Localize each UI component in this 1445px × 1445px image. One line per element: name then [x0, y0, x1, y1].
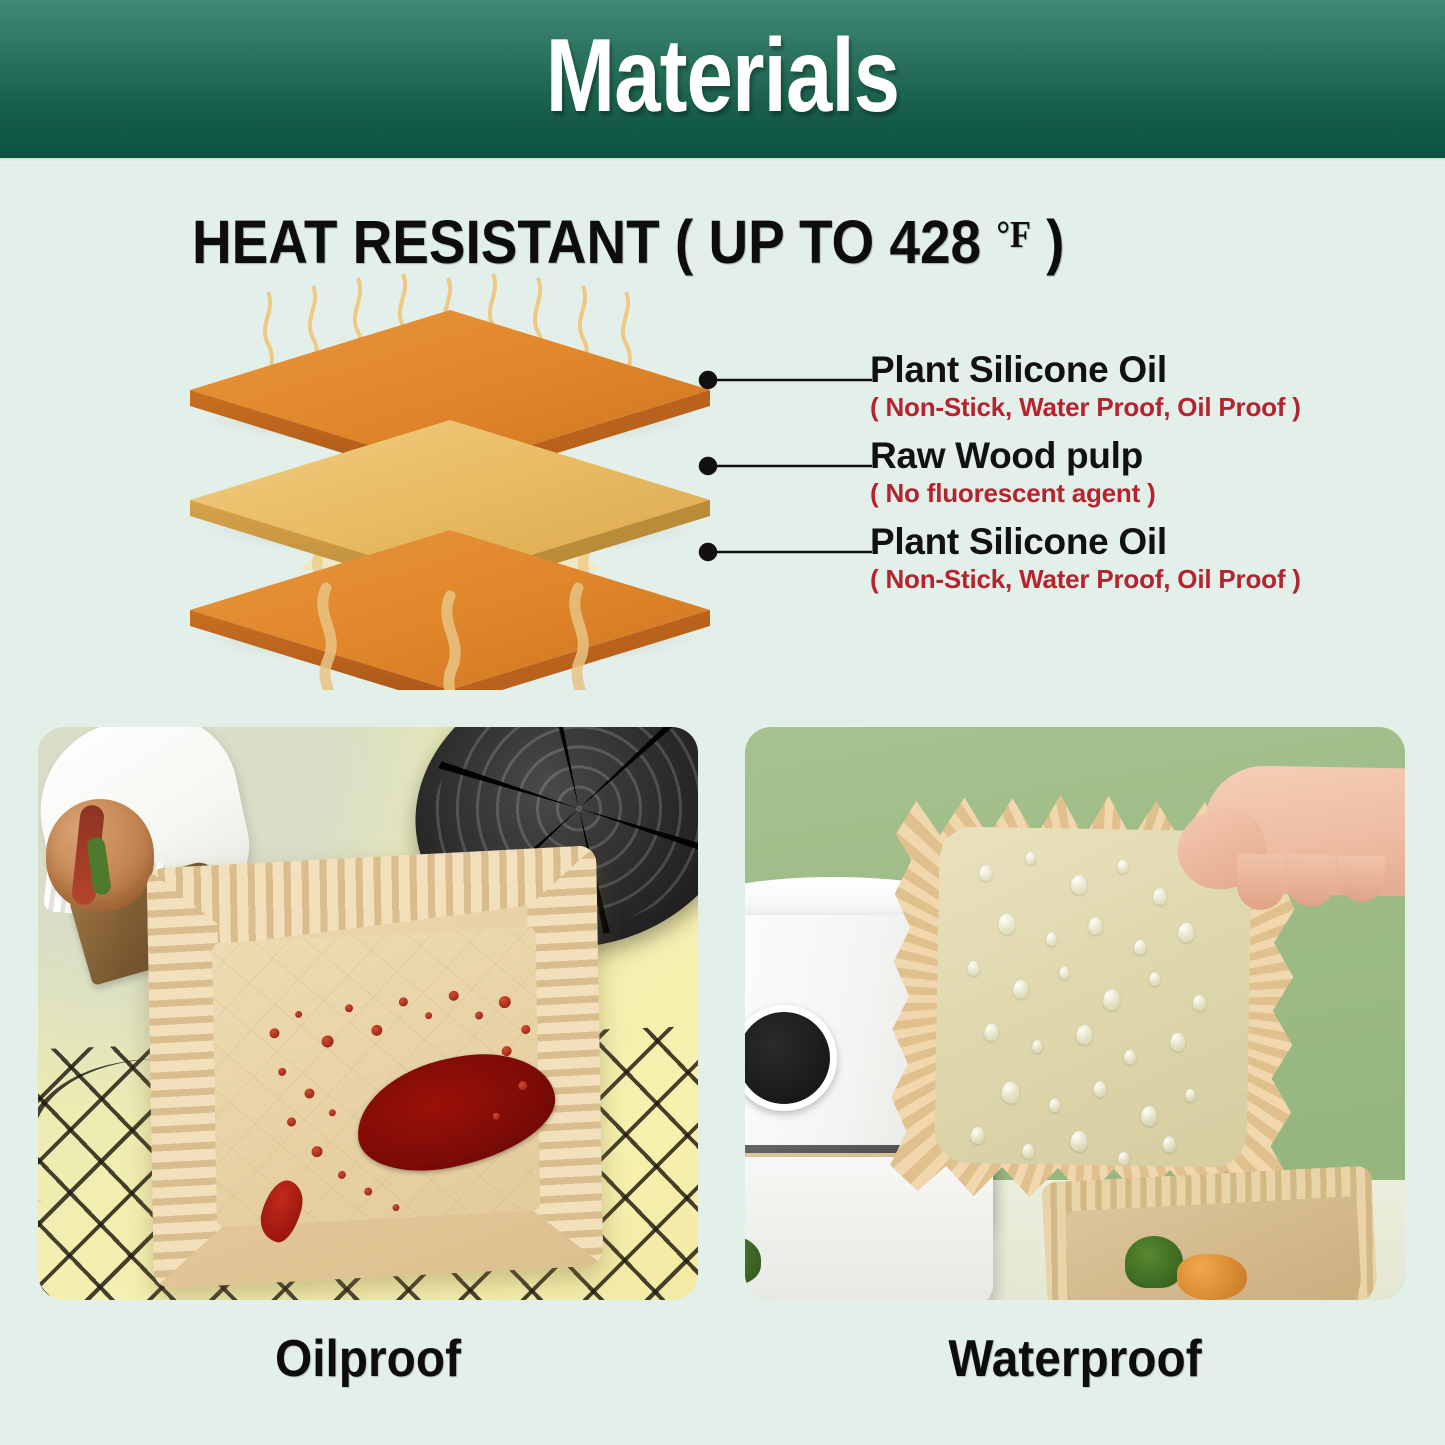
fried-food — [1177, 1254, 1247, 1300]
callout-layer-1: Raw Wood pulp ( No fluorescent agent ) — [870, 434, 1310, 509]
degree-fahrenheit-label: °F — [996, 214, 1031, 256]
hand-finger — [1237, 854, 1286, 911]
header-divider — [0, 158, 1445, 163]
held-paper-liner — [889, 784, 1296, 1215]
heat-resistant-heading: HEAT RESISTANT ( UP TO 428 °F ) — [192, 199, 1064, 278]
oilproof-scene — [38, 727, 698, 1300]
photo-oilproof — [38, 727, 698, 1300]
page-header: Materials — [0, 0, 1445, 158]
caption-waterproof: Waterproof — [771, 1327, 1378, 1391]
paper-liner-with-oil — [147, 845, 604, 1289]
heat-resistant-prefix: HEAT RESISTANT ( UP TO 428 — [192, 208, 996, 276]
caption-oilproof: Oilproof — [64, 1327, 671, 1391]
layer-diagram — [150, 270, 800, 690]
broccoli — [1125, 1236, 1183, 1288]
callout-subtitle-1: ( No fluorescent agent ) — [870, 478, 1310, 509]
callout-subtitle-2: ( Non-Stick, Water Proof, Oil Proof ) — [870, 564, 1310, 595]
callout-title-2: Plant Silicone Oil — [870, 520, 1310, 564]
callout-layer-2: Plant Silicone Oil ( Non-Stick, Water Pr… — [870, 520, 1310, 595]
layer-diagram-svg — [150, 270, 800, 690]
callout-title-0: Plant Silicone Oil — [870, 348, 1310, 392]
burger — [46, 799, 154, 911]
photo-waterproof — [745, 727, 1405, 1300]
sauce-droplets — [147, 845, 604, 1289]
stacked-liner-food — [1125, 1232, 1255, 1300]
page-title: Materials — [145, 16, 1301, 136]
callout-title-1: Raw Wood pulp — [870, 434, 1310, 478]
heat-resistant-suffix: ) — [1031, 208, 1065, 276]
callout-layer-0: Plant Silicone Oil ( Non-Stick, Water Pr… — [870, 348, 1310, 423]
hand — [1144, 764, 1405, 959]
callout-subtitle-0: ( Non-Stick, Water Proof, Oil Proof ) — [870, 392, 1310, 423]
hand-finger — [1287, 854, 1336, 907]
waterproof-scene — [745, 727, 1405, 1300]
